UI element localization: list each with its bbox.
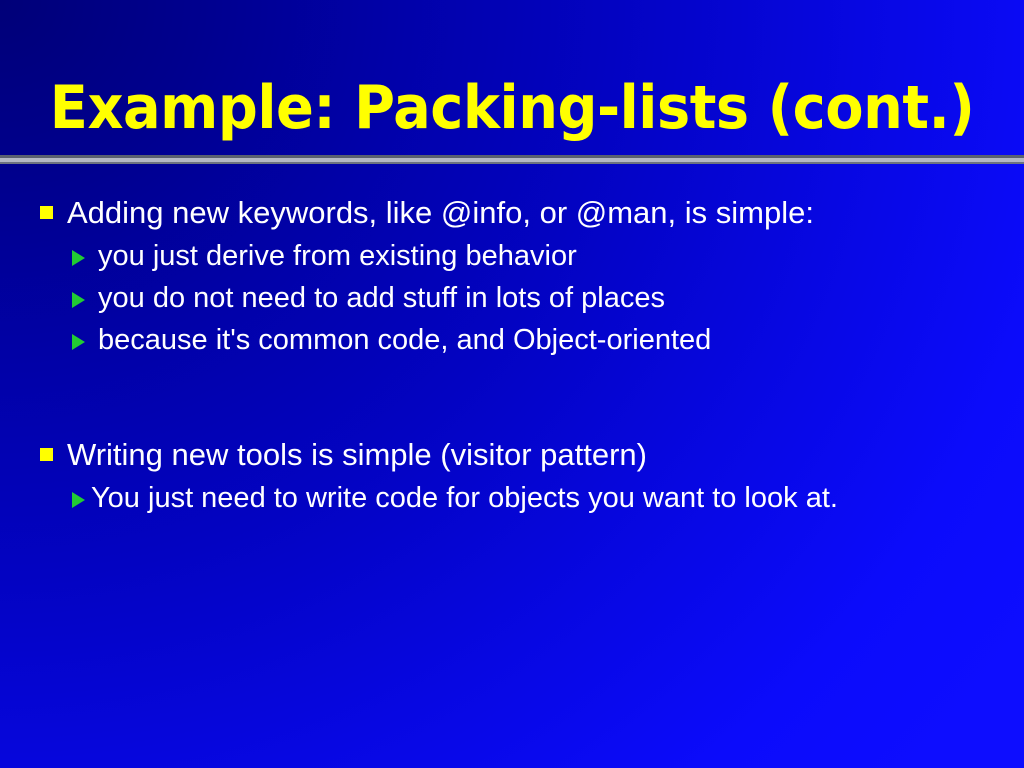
presentation-slide: Example: Packing-lists (cont.) Adding ne… <box>0 0 1024 768</box>
list-item-label: you just derive from existing behavior <box>98 236 577 277</box>
list-item: because it's common code, and Object-ori… <box>0 320 1024 361</box>
list-item-label: Adding new keywords, like @info, or @man… <box>67 192 814 234</box>
list-item: You just need to write code for objects … <box>0 478 1024 519</box>
square-bullet-icon <box>40 206 53 219</box>
list-item: Writing new tools is simple (visitor pat… <box>0 434 1024 476</box>
list-item: Adding new keywords, like @info, or @man… <box>0 192 1024 234</box>
square-bullet-icon <box>40 448 53 461</box>
divider-rule-shadow <box>0 162 1024 164</box>
title-divider <box>0 155 1024 165</box>
list-item: you just derive from existing behavior <box>0 236 1024 277</box>
list-item-label: Writing new tools is simple (visitor pat… <box>67 434 647 476</box>
triangle-bullet-icon <box>72 292 85 308</box>
triangle-bullet-icon <box>72 492 85 508</box>
triangle-bullet-icon <box>72 250 85 266</box>
page-title: Example: Packing-lists (cont.) <box>50 78 975 138</box>
list-item-label: you do not need to add stuff in lots of … <box>98 278 665 319</box>
slide-body: Adding new keywords, like @info, or @man… <box>0 192 1024 752</box>
list-item-label: You just need to write code for objects … <box>91 478 1024 519</box>
list-item: you do not need to add stuff in lots of … <box>0 278 1024 319</box>
bullet-group-spacer <box>0 362 1024 434</box>
slide-title-area: Example: Packing-lists (cont.) <box>0 66 1024 150</box>
list-item-label: because it's common code, and Object-ori… <box>98 320 711 361</box>
triangle-bullet-icon <box>72 334 85 350</box>
